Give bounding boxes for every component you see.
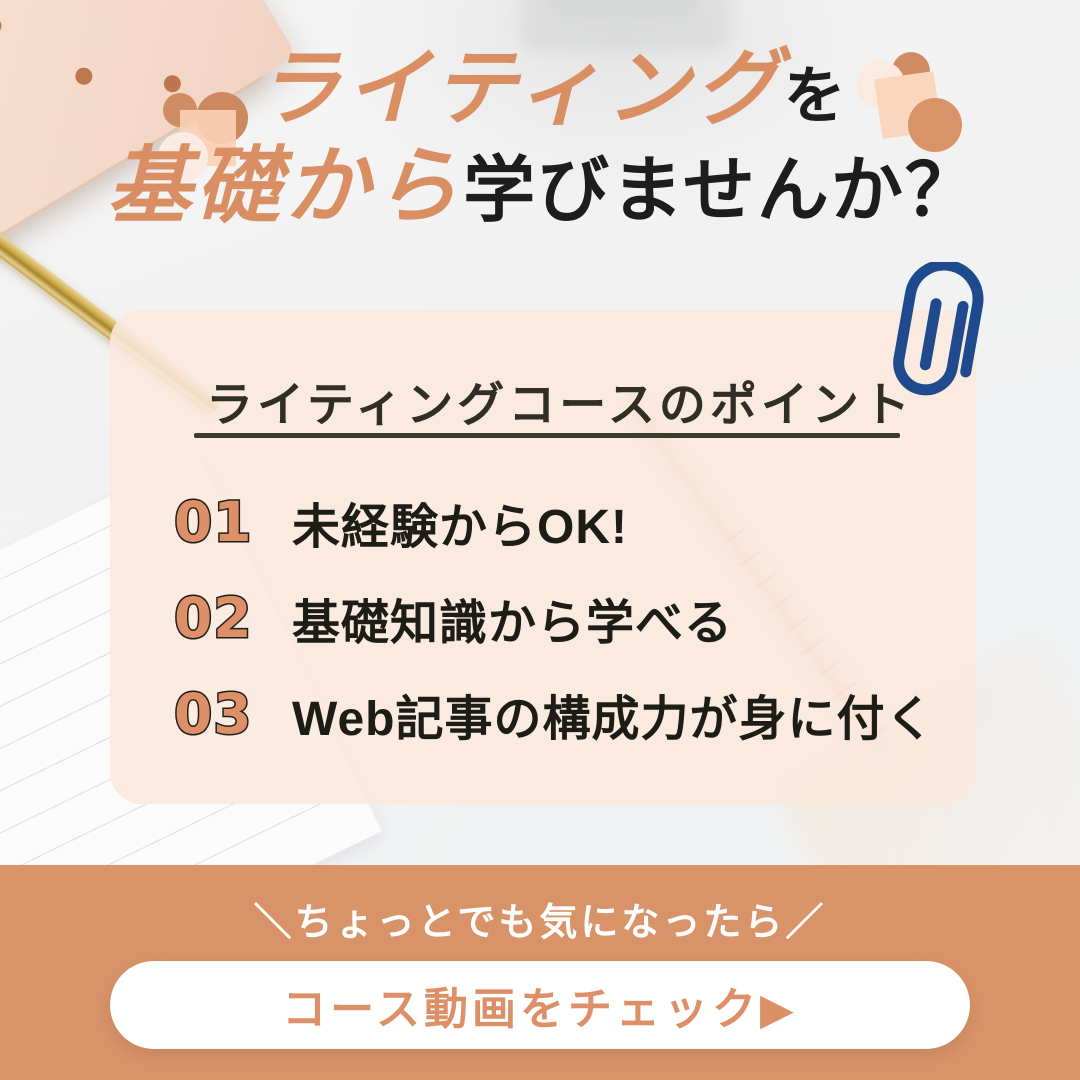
glass-jar-lid xyxy=(548,0,698,16)
poster-canvas: ライティングを 基礎から学びませんか？ ライティングコースのポイント 01 未経… xyxy=(0,0,1080,1080)
points-card: ライティングコースのポイント 01 未経験からOK! 02 基礎知識から学べる … xyxy=(110,310,976,804)
paperclip-icon xyxy=(874,262,996,404)
headline-accent-1: ライティング xyxy=(256,41,783,135)
course-video-button[interactable]: コース動画をチェック▶ xyxy=(110,961,970,1049)
notebook-dot xyxy=(0,14,5,37)
headline-accent-2: 基礎から xyxy=(107,139,463,233)
points-list: 01 未経験からOK! 02 基礎知識から学べる 03 Web記事の構成力が身に… xyxy=(174,474,946,762)
headline-line-2: 基礎から学びませんか？ xyxy=(6,144,1080,228)
headline-line-1: ライティングを xyxy=(24,46,1080,130)
point-number: 01 xyxy=(174,490,292,554)
card-title-underline xyxy=(194,433,900,438)
list-item: 03 Web記事の構成力が身に付く xyxy=(174,666,946,762)
list-item: 01 未経験からOK! xyxy=(174,474,946,570)
point-number: 02 xyxy=(174,586,292,650)
point-text: 基礎知識から学べる xyxy=(292,583,733,653)
cta-band: ＼ちょっとでも気になったら／ コース動画をチェック▶ xyxy=(0,865,1080,1080)
headline-plain-2: 学びませんか？ xyxy=(463,151,979,231)
point-text: 未経験からOK! xyxy=(292,487,628,557)
headline-plain-1: を xyxy=(784,62,848,131)
point-text: Web記事の構成力が身に付く xyxy=(292,679,934,749)
point-number: 03 xyxy=(174,682,292,746)
card-title: ライティングコースのポイント xyxy=(206,366,914,435)
course-video-button-label: コース動画をチェック▶ xyxy=(282,973,798,1037)
cta-lead-text: ＼ちょっとでも気になったら／ xyxy=(0,891,1080,946)
headline: ライティングを 基礎から学びませんか？ xyxy=(0,46,1080,228)
list-item: 02 基礎知識から学べる xyxy=(174,570,946,666)
